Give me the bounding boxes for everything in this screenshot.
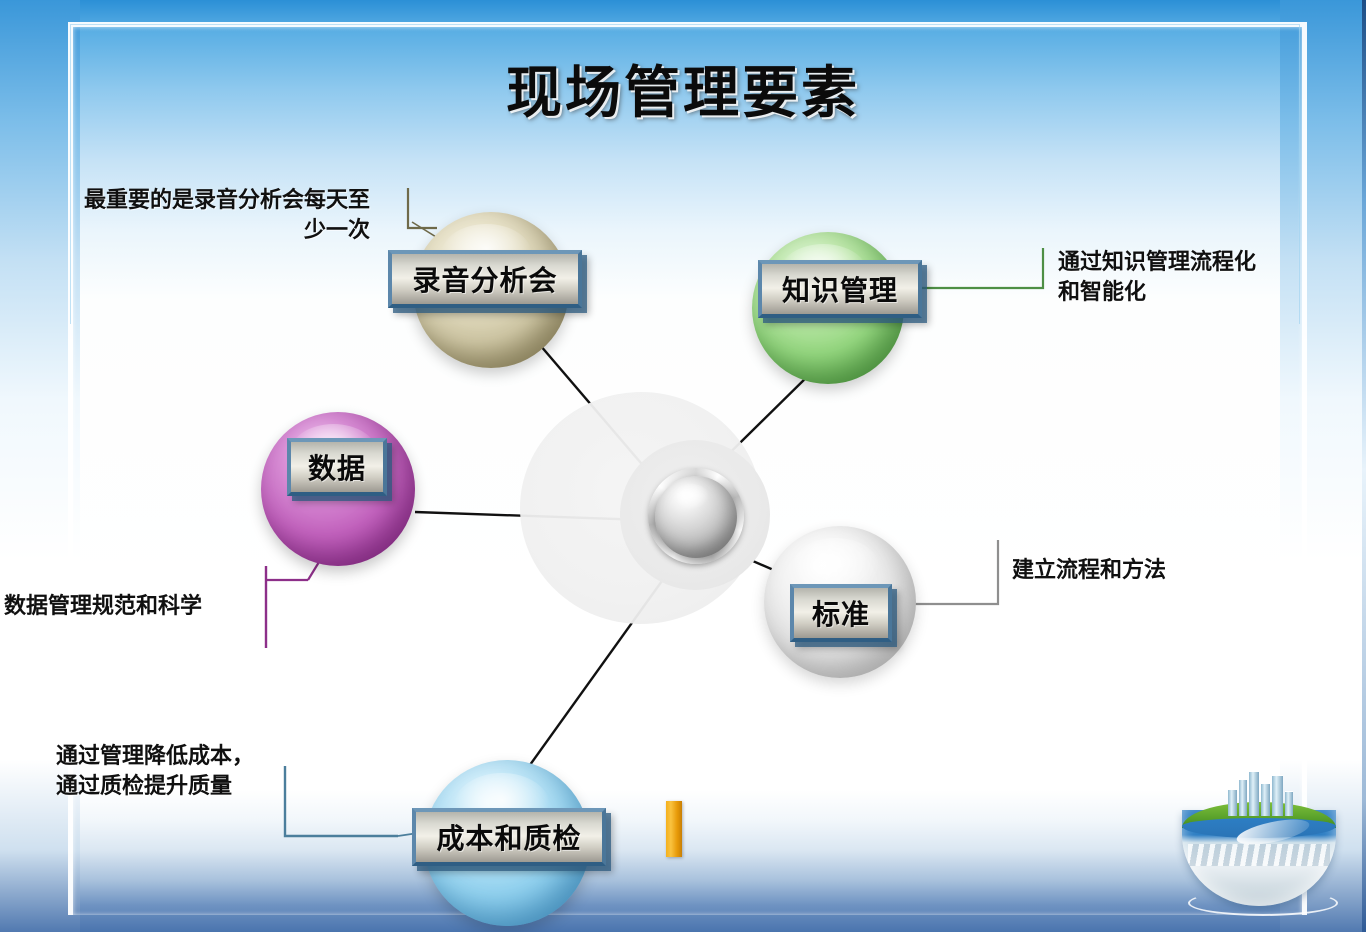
label-data[interactable]: 数据 bbox=[287, 438, 387, 496]
slide-canvas: 现场管理要素 录音分析会 知识管理 数据 bbox=[0, 0, 1366, 932]
note-standard: 建立流程和方法 bbox=[1012, 556, 1242, 586]
label-recording-analysis[interactable]: 录音分析会 bbox=[388, 250, 582, 308]
label-cost-and-quality[interactable]: 成本和质检 bbox=[412, 808, 606, 866]
globe-ripple bbox=[1188, 890, 1338, 916]
right-edge-strip bbox=[1362, 0, 1366, 932]
orange-accent-bar bbox=[666, 801, 682, 857]
note-data: 数据管理规范和科学 bbox=[4, 592, 264, 622]
page-title: 现场管理要素 bbox=[0, 48, 1366, 129]
eco-city-globe bbox=[1178, 766, 1340, 916]
center-hub-sphere[interactable] bbox=[655, 476, 737, 558]
note-cost-quality: 通过管理降低成本，通过质检提升质量 bbox=[56, 742, 256, 802]
globe-city-buildings bbox=[1226, 770, 1298, 816]
note-recording-analysis: 最重要的是录音分析会每天至少一次 bbox=[70, 186, 370, 246]
label-knowledge-management[interactable]: 知识管理 bbox=[758, 260, 922, 318]
note-knowledge-management: 通过知识管理流程化和智能化 bbox=[1058, 248, 1268, 308]
label-standard[interactable]: 标准 bbox=[790, 584, 892, 642]
